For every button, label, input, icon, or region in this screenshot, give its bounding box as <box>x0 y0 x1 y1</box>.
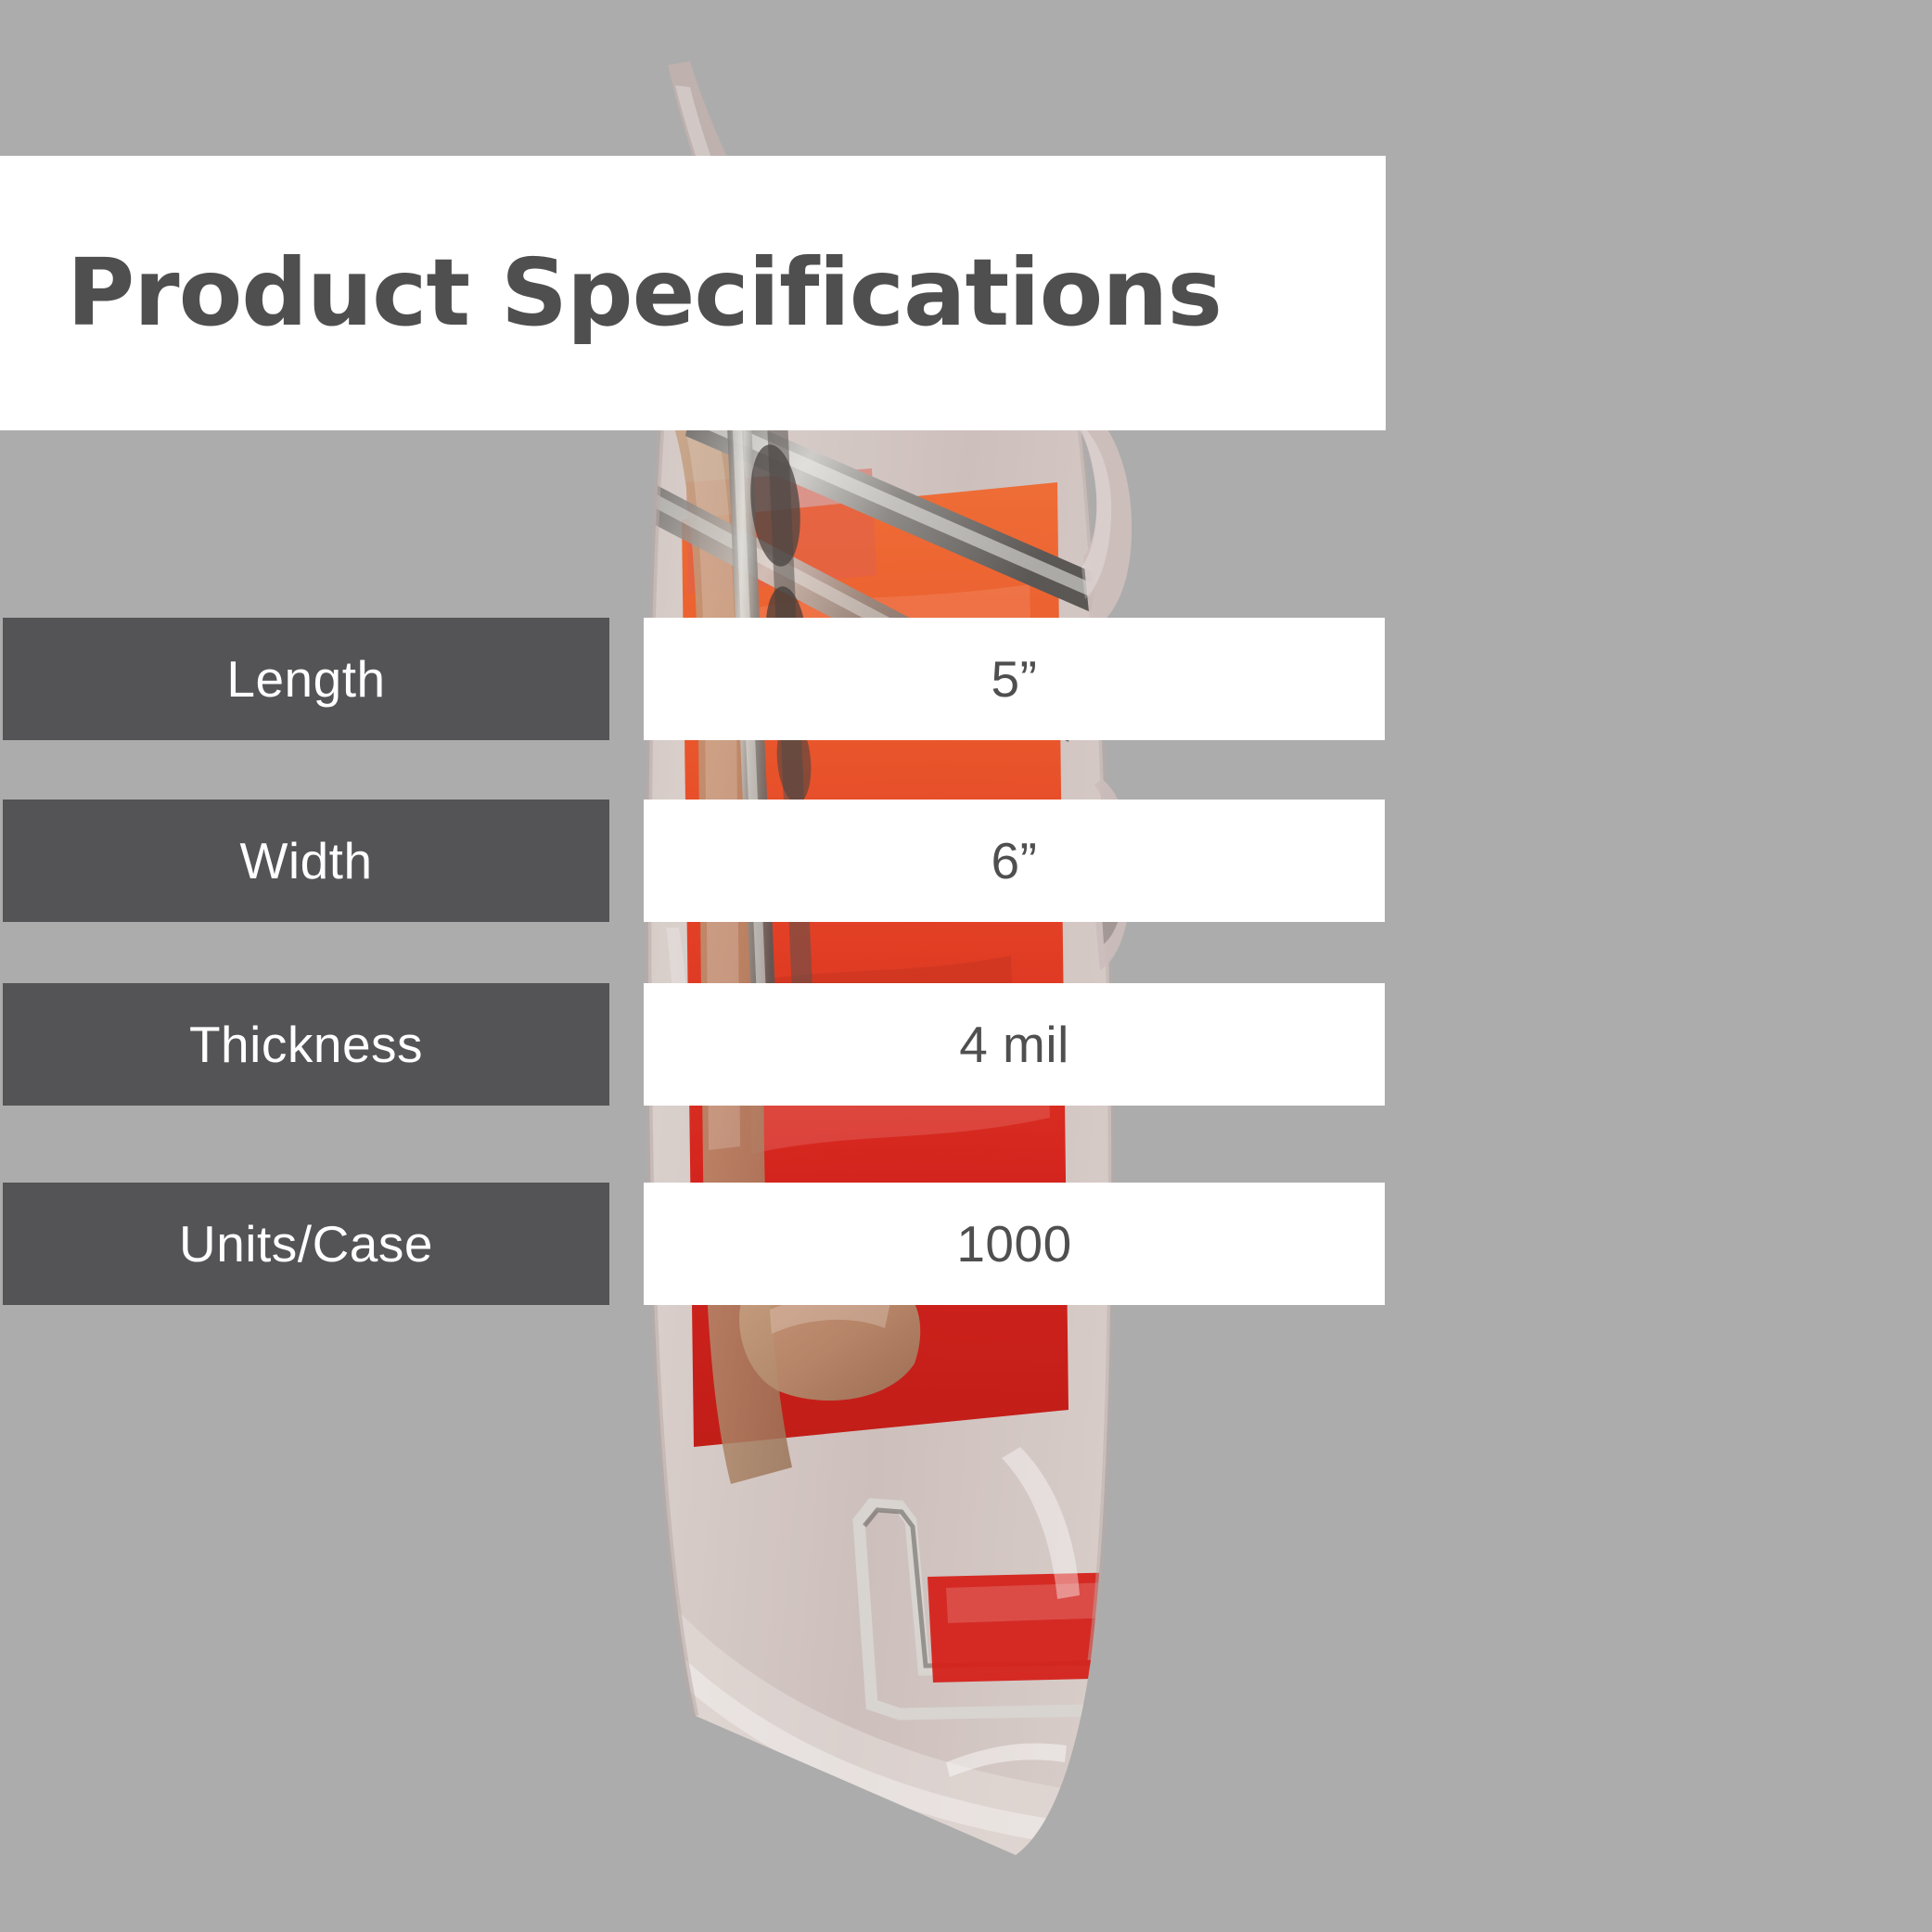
spec-label-text: Width <box>239 836 372 887</box>
spec-row-thickness: Thickness 4 mil <box>0 983 1386 1106</box>
spec-value-cell: 6” <box>644 800 1385 922</box>
spec-row-width: Width 6” <box>0 800 1386 922</box>
spec-value-text: 1000 <box>956 1219 1071 1270</box>
spec-value-cell: 1000 <box>644 1183 1385 1305</box>
spec-label-text: Thickness <box>189 1019 423 1070</box>
spec-label-cell: Units/Case <box>3 1183 609 1305</box>
spec-value-cell: 4 mil <box>644 983 1385 1106</box>
title-banner: Product Specifications <box>0 156 1386 430</box>
spec-value-text: 4 mil <box>959 1019 1069 1070</box>
spec-row-length: Length 5” <box>0 618 1386 740</box>
product-specifications-graphic: Product Specifications Length 5” Width 6… <box>0 0 1932 1932</box>
spec-label-text: Units/Case <box>179 1219 433 1270</box>
spec-value-text: 5” <box>992 654 1038 705</box>
spec-value-text: 6” <box>992 836 1038 887</box>
spec-label-cell: Length <box>3 618 609 740</box>
page-title: Product Specifications <box>67 247 1222 339</box>
spec-label-cell: Thickness <box>3 983 609 1106</box>
spec-row-units-per-case: Units/Case 1000 <box>0 1183 1386 1305</box>
spec-value-cell: 5” <box>644 618 1385 740</box>
spec-label-text: Length <box>226 654 385 705</box>
spec-label-cell: Width <box>3 800 609 922</box>
